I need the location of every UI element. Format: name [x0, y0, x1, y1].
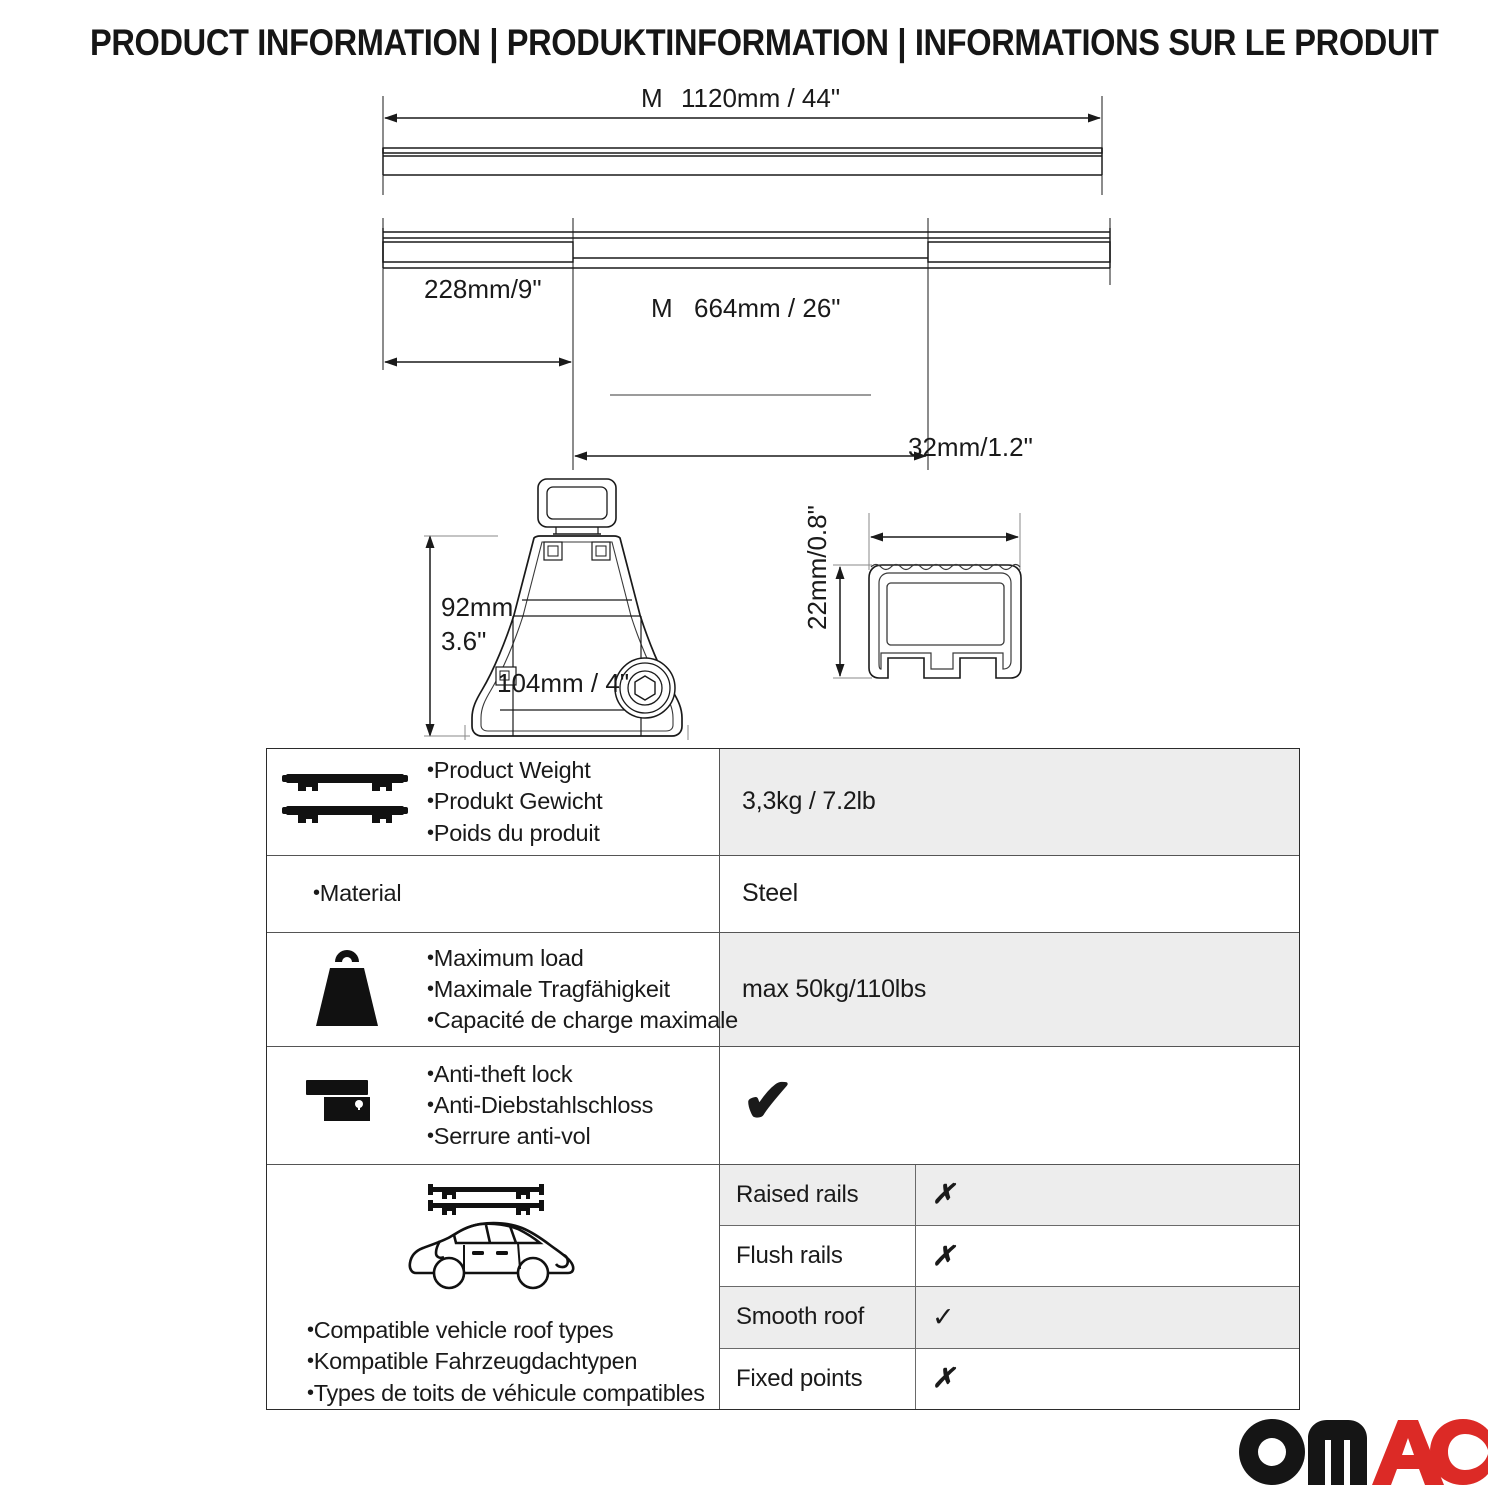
- foot-offset-label: 228mm/9": [424, 274, 542, 304]
- product-spec-table: •Product Weight •Produkt Gewicht •Poids …: [266, 748, 1300, 1410]
- compat-value: ✗: [916, 1165, 1299, 1225]
- weight-block-icon: [267, 948, 427, 1032]
- foot-width-label: 104mm / 4": [497, 668, 629, 698]
- spec-label-cell: •Maximum load •Maximale Tragfähigkeit •C…: [267, 933, 720, 1046]
- car-with-roof-rack-icon: [267, 1173, 719, 1303]
- spec-label-fr: •Poids du produit: [427, 818, 602, 849]
- compat-row-smooth-roof: Smooth roof ✓: [720, 1287, 1299, 1348]
- spec-label-en: •Product Weight: [427, 755, 602, 786]
- foot-height-in-label: 3.6": [441, 626, 486, 656]
- spec-value-anti-theft-lock: ✔: [720, 1047, 1299, 1163]
- spec-labels: •Material: [313, 878, 401, 909]
- spec-label-en: •Anti-theft lock: [427, 1059, 653, 1090]
- spec-label-cell: •Compatible vehicle roof types •Kompatib…: [267, 1165, 720, 1409]
- technical-drawing: M 1120mm / 44" 228mm/9" M 664mm / 26" 92…: [0, 70, 1500, 740]
- profile-width-label: 32mm/1.2": [908, 432, 1033, 462]
- compat-row-flush-rails: Flush rails ✗: [720, 1226, 1299, 1287]
- bar-length-label: 1120mm / 44": [681, 83, 840, 113]
- spec-label-de: •Maximale Tragfähigkeit: [427, 974, 738, 1005]
- compat-label-de: •Kompatible Fahrzeugdachtypen: [307, 1346, 705, 1377]
- spec-label-fr: •Capacité de charge maximale: [427, 1005, 738, 1036]
- check-icon: ✔: [742, 1071, 794, 1133]
- table-row-anti-theft-lock: •Anti-theft lock •Anti-Diebstahlschloss …: [267, 1047, 1299, 1164]
- spec-label-en: •Maximum load: [427, 943, 738, 974]
- omac-logo: [1238, 1418, 1488, 1486]
- spec-label-cell: •Material: [267, 856, 720, 932]
- compat-name: Fixed points: [720, 1349, 916, 1409]
- cross-icon: ✗: [932, 1241, 955, 1272]
- bar-length-prefix: M: [641, 83, 663, 113]
- check-icon: ✓: [932, 1302, 955, 1333]
- spec-label-de: •Anti-Diebstahlschloss: [427, 1090, 653, 1121]
- compat-label-fr: •Types de toits de véhicule compatibles: [307, 1378, 705, 1409]
- compat-label-en: •Compatible vehicle roof types: [307, 1315, 705, 1346]
- spec-label-en: •Material: [313, 878, 401, 909]
- spec-label-cell: •Anti-theft lock •Anti-Diebstahlschloss …: [267, 1047, 720, 1163]
- table-row-compatible-roof-types: •Compatible vehicle roof types •Kompatib…: [267, 1165, 1299, 1409]
- compat-value: ✗: [916, 1226, 1299, 1286]
- table-row-product-weight: •Product Weight •Produkt Gewicht •Poids …: [267, 749, 1299, 856]
- compat-value: ✗: [916, 1349, 1299, 1409]
- table-row-maximum-load: •Maximum load •Maximale Tragfähigkeit •C…: [267, 933, 1299, 1047]
- table-row-material: •Material Steel: [267, 856, 1299, 933]
- compat-value: ✓: [916, 1287, 1299, 1347]
- span-label: 664mm / 26": [694, 293, 841, 323]
- compat-name: Flush rails: [720, 1226, 916, 1286]
- compat-row-fixed-points: Fixed points ✗: [720, 1349, 1299, 1409]
- compat-row-raised-rails: Raised rails ✗: [720, 1165, 1299, 1226]
- compat-matrix: Raised rails ✗ Flush rails ✗ Smooth roof…: [720, 1165, 1299, 1409]
- spec-label-de: •Produkt Gewicht: [427, 786, 602, 817]
- spec-value-material: Steel: [720, 856, 1299, 932]
- compat-name: Smooth roof: [720, 1287, 916, 1347]
- compat-name: Raised rails: [720, 1165, 916, 1225]
- span-prefix: M: [651, 293, 673, 323]
- profile-height-label: 22mm/0.8": [802, 505, 832, 630]
- compat-labels: •Compatible vehicle roof types •Kompatib…: [267, 1303, 705, 1409]
- spec-labels: •Anti-theft lock •Anti-Diebstahlschloss …: [427, 1059, 653, 1153]
- lock-clamp-icon: [267, 1074, 427, 1136]
- page-title: PRODUCT INFORMATION | PRODUKTINFORMATION…: [90, 22, 1410, 64]
- cross-icon: ✗: [932, 1179, 955, 1210]
- spec-value-maximum-load: max 50kg/110lbs: [720, 933, 1299, 1046]
- spec-labels: •Product Weight •Produkt Gewicht •Poids …: [427, 755, 602, 849]
- spec-label-fr: •Serrure anti-vol: [427, 1121, 653, 1152]
- spec-value-product-weight: 3,3kg / 7.2lb: [720, 749, 1299, 855]
- cross-icon: ✗: [932, 1363, 955, 1394]
- spec-labels: •Maximum load •Maximale Tragfähigkeit •C…: [427, 943, 738, 1037]
- spec-label-cell: •Product Weight •Produkt Gewicht •Poids …: [267, 749, 720, 855]
- foot-height-mm-label: 92mm: [441, 592, 513, 622]
- two-crossbars-icon: [267, 768, 427, 836]
